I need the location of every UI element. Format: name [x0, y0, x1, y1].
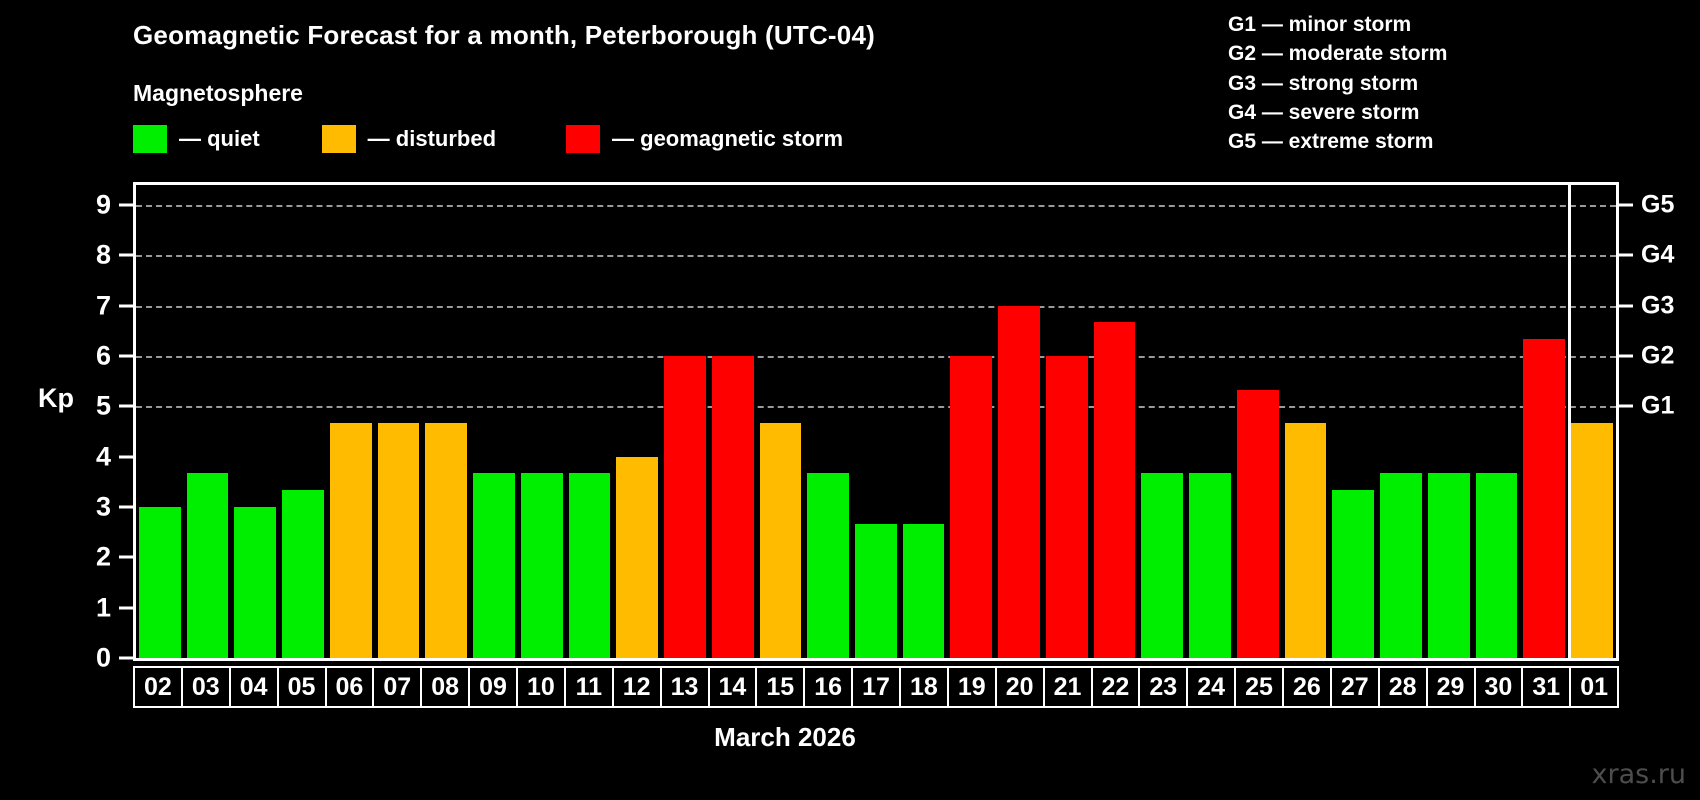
plot-area — [133, 182, 1619, 661]
y-tick-label-2: 2 — [51, 542, 111, 573]
bar-02[interactable] — [139, 507, 181, 658]
y-tick-mark-7 — [119, 304, 133, 307]
bar-24[interactable] — [1189, 473, 1231, 658]
x-axis-title: March 2026 — [0, 722, 1700, 753]
x-date-label-05[interactable]: 05 — [277, 666, 327, 708]
bar-cell-15[interactable] — [757, 185, 805, 658]
bar-23[interactable] — [1141, 473, 1183, 658]
x-date-label-22[interactable]: 22 — [1091, 666, 1141, 708]
x-date-label-08[interactable]: 08 — [420, 666, 470, 708]
x-date-label-02[interactable]: 02 — [133, 666, 183, 708]
x-axis-date-labels: 0203040506070809101112131415161718192021… — [133, 666, 1619, 708]
bar-cell-29[interactable] — [1425, 185, 1473, 658]
x-date-label-20[interactable]: 20 — [995, 666, 1045, 708]
legend-item-quiet: — quiet — [133, 125, 260, 153]
bar-03[interactable] — [187, 473, 229, 658]
bar-cell-09[interactable] — [470, 185, 518, 658]
bar-cell-10[interactable] — [518, 185, 566, 658]
y-tick-label-9: 9 — [51, 190, 111, 221]
g-scale-line-g5: G5 — extreme storm — [1228, 127, 1447, 156]
x-date-label-13[interactable]: 13 — [660, 666, 710, 708]
bar-cell-25[interactable] — [1234, 185, 1282, 658]
y-tick-mark-6 — [119, 355, 133, 358]
g-tick-mark-G2 — [1619, 355, 1633, 358]
bar-10[interactable] — [521, 473, 563, 658]
x-date-label-27[interactable]: 27 — [1330, 666, 1380, 708]
y-tick-mark-8 — [119, 254, 133, 257]
bar-cell-01[interactable] — [1568, 185, 1616, 658]
page-title: Geomagnetic Forecast for a month, Peterb… — [133, 20, 875, 51]
g-scale-line-g4: G4 — severe storm — [1228, 98, 1447, 127]
y-tick-mark-5 — [119, 405, 133, 408]
bar-cell-07[interactable] — [375, 185, 423, 658]
legend-item-disturbed: — disturbed — [322, 125, 496, 153]
x-date-label-26[interactable]: 26 — [1282, 666, 1332, 708]
magnetosphere-legend: — quiet — disturbed — geomagnetic storm — [133, 123, 843, 155]
x-date-label-07[interactable]: 07 — [372, 666, 422, 708]
x-date-label-17[interactable]: 17 — [851, 666, 901, 708]
x-date-label-29[interactable]: 29 — [1426, 666, 1476, 708]
bar-08[interactable] — [425, 423, 467, 658]
x-date-label-14[interactable]: 14 — [708, 666, 758, 708]
bar-01[interactable] — [1571, 423, 1613, 658]
y-tick-label-6: 6 — [51, 341, 111, 372]
x-date-label-18[interactable]: 18 — [899, 666, 949, 708]
bar-cell-26[interactable] — [1282, 185, 1330, 658]
y-tick-label-4: 4 — [51, 441, 111, 472]
g-tick-label-G5: G5 — [1641, 191, 1674, 220]
bar-31[interactable] — [1523, 339, 1565, 658]
x-date-label-19[interactable]: 19 — [947, 666, 997, 708]
bar-cell-16[interactable] — [804, 185, 852, 658]
g-tick-label-G3: G3 — [1641, 291, 1674, 320]
x-date-label-16[interactable]: 16 — [803, 666, 853, 708]
x-date-label-10[interactable]: 10 — [516, 666, 566, 708]
legend-swatch-quiet — [133, 125, 167, 153]
bar-cell-21[interactable] — [1043, 185, 1091, 658]
y-tick-mark-3 — [119, 506, 133, 509]
x-date-label-24[interactable]: 24 — [1186, 666, 1236, 708]
g-tick-mark-G4 — [1619, 254, 1633, 257]
g-scale-legend: G1 — minor storm G2 — moderate storm G3 … — [1228, 10, 1447, 156]
bar-14[interactable] — [712, 356, 754, 658]
bar-28[interactable] — [1380, 473, 1422, 658]
bar-cell-23[interactable] — [1138, 185, 1186, 658]
y-tick-label-0: 0 — [51, 643, 111, 674]
x-date-label-04[interactable]: 04 — [229, 666, 279, 708]
y-tick-label-1: 1 — [51, 592, 111, 623]
g-tick-label-G1: G1 — [1641, 392, 1674, 421]
bar-cell-12[interactable] — [613, 185, 661, 658]
x-date-label-03[interactable]: 03 — [181, 666, 231, 708]
bar-cell-14[interactable] — [709, 185, 757, 658]
bar-04[interactable] — [234, 507, 276, 658]
x-date-label-30[interactable]: 30 — [1474, 666, 1524, 708]
g-axis: G1G2G3G4G5 — [1619, 182, 1700, 661]
g-tick-label-G4: G4 — [1641, 241, 1674, 270]
bar-16[interactable] — [807, 473, 849, 658]
bar-cell-11[interactable] — [566, 185, 614, 658]
x-date-label-28[interactable]: 28 — [1378, 666, 1428, 708]
bar-15[interactable] — [760, 423, 802, 658]
bar-19[interactable] — [950, 356, 992, 658]
y-tick-mark-9 — [119, 204, 133, 207]
y-tick-label-3: 3 — [51, 492, 111, 523]
y-tick-mark-4 — [119, 455, 133, 458]
bar-26[interactable] — [1285, 423, 1327, 658]
month-separator-line — [1568, 185, 1571, 658]
bar-cell-06[interactable] — [327, 185, 375, 658]
bar-11[interactable] — [569, 473, 611, 658]
x-date-label-31[interactable]: 31 — [1521, 666, 1571, 708]
legend-swatch-storm — [566, 125, 600, 153]
bar-cell-24[interactable] — [1186, 185, 1234, 658]
bar-21[interactable] — [1046, 356, 1088, 658]
x-date-label-15[interactable]: 15 — [755, 666, 805, 708]
y-tick-mark-0 — [119, 657, 133, 660]
x-date-label-11[interactable]: 11 — [564, 666, 614, 708]
bar-17[interactable] — [855, 524, 897, 658]
bar-09[interactable] — [473, 473, 515, 658]
legend-item-storm: — geomagnetic storm — [566, 125, 843, 153]
g-tick-mark-G3 — [1619, 304, 1633, 307]
bar-cell-31[interactable] — [1520, 185, 1568, 658]
y-tick-label-5: 5 — [51, 391, 111, 422]
bar-05[interactable] — [282, 490, 324, 658]
y-tick-label-7: 7 — [51, 290, 111, 321]
x-date-label-01[interactable]: 01 — [1569, 666, 1619, 708]
x-axis-title-text: March 2026 — [714, 722, 856, 753]
x-date-label-06[interactable]: 06 — [325, 666, 375, 708]
bar-29[interactable] — [1428, 473, 1470, 658]
bar-cell-03[interactable] — [184, 185, 232, 658]
bar-20[interactable] — [998, 306, 1040, 658]
x-date-label-09[interactable]: 09 — [468, 666, 518, 708]
legend-label-quiet: — quiet — [179, 126, 260, 152]
g-tick-mark-G5 — [1619, 204, 1633, 207]
x-date-label-12[interactable]: 12 — [612, 666, 662, 708]
y-tick-mark-1 — [119, 606, 133, 609]
bar-13[interactable] — [664, 356, 706, 658]
legend-label-storm: — geomagnetic storm — [612, 126, 843, 152]
bar-27[interactable] — [1332, 490, 1374, 658]
magnetosphere-label: Magnetosphere — [133, 80, 303, 107]
g-tick-label-G2: G2 — [1641, 342, 1674, 371]
bar-25[interactable] — [1237, 390, 1279, 658]
bar-cell-08[interactable] — [422, 185, 470, 658]
bar-06[interactable] — [330, 423, 372, 658]
bar-cell-18[interactable] — [900, 185, 948, 658]
x-date-label-25[interactable]: 25 — [1234, 666, 1284, 708]
g-scale-line-g3: G3 — strong storm — [1228, 69, 1447, 98]
legend-swatch-disturbed — [322, 125, 356, 153]
bar-cell-02[interactable] — [136, 185, 184, 658]
bar-22[interactable] — [1094, 322, 1136, 658]
bar-12[interactable] — [616, 457, 658, 658]
bar-30[interactable] — [1476, 473, 1518, 658]
bar-cell-17[interactable] — [852, 185, 900, 658]
y-axis: 0123456789 — [0, 182, 133, 661]
g-scale-line-g1: G1 — minor storm — [1228, 10, 1447, 39]
bar-cell-22[interactable] — [1091, 185, 1139, 658]
bar-cell-13[interactable] — [661, 185, 709, 658]
g-tick-mark-G1 — [1619, 405, 1633, 408]
x-date-label-23[interactable]: 23 — [1138, 666, 1188, 708]
bar-cell-28[interactable] — [1377, 185, 1425, 658]
bar-cell-30[interactable] — [1473, 185, 1521, 658]
bar-series — [136, 185, 1616, 658]
bar-18[interactable] — [903, 524, 945, 658]
bar-07[interactable] — [378, 423, 420, 658]
legend-label-disturbed: — disturbed — [368, 126, 496, 152]
bar-cell-04[interactable] — [231, 185, 279, 658]
bar-cell-20[interactable] — [995, 185, 1043, 658]
g-scale-line-g2: G2 — moderate storm — [1228, 39, 1447, 68]
bar-cell-27[interactable] — [1329, 185, 1377, 658]
watermark: xras.ru — [1592, 759, 1687, 790]
bar-cell-05[interactable] — [279, 185, 327, 658]
bar-cell-19[interactable] — [947, 185, 995, 658]
y-tick-label-8: 8 — [51, 240, 111, 271]
x-date-label-21[interactable]: 21 — [1043, 666, 1093, 708]
y-tick-mark-2 — [119, 556, 133, 559]
